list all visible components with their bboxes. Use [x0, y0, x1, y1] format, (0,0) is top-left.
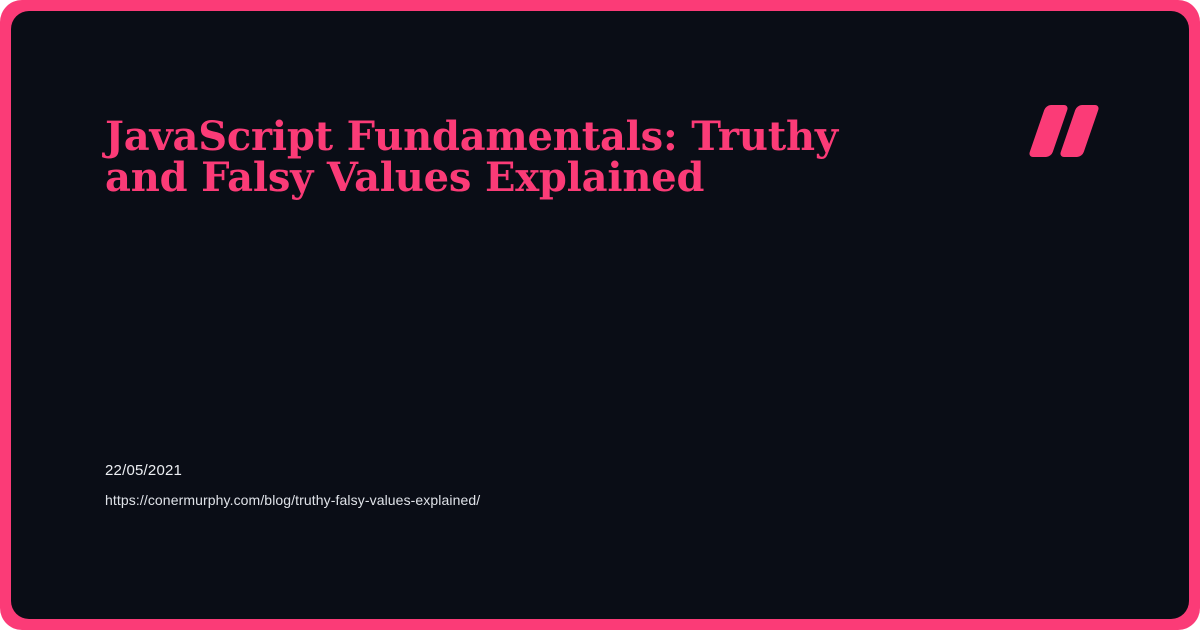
article-url: https://conermurphy.com/blog/truthy-fals…: [105, 491, 480, 510]
page-title: JavaScript Fundamentals: Truthy and Fals…: [105, 116, 845, 198]
og-card: JavaScript Fundamentals: Truthy and Fals…: [0, 0, 1200, 630]
title-block: JavaScript Fundamentals: Truthy and Fals…: [105, 116, 845, 198]
publish-date: 22/05/2021: [105, 461, 480, 481]
card-panel: JavaScript Fundamentals: Truthy and Fals…: [11, 11, 1189, 619]
double-slash-logo-icon: [1035, 105, 1101, 157]
meta-block: 22/05/2021 https://conermurphy.com/blog/…: [105, 461, 480, 510]
